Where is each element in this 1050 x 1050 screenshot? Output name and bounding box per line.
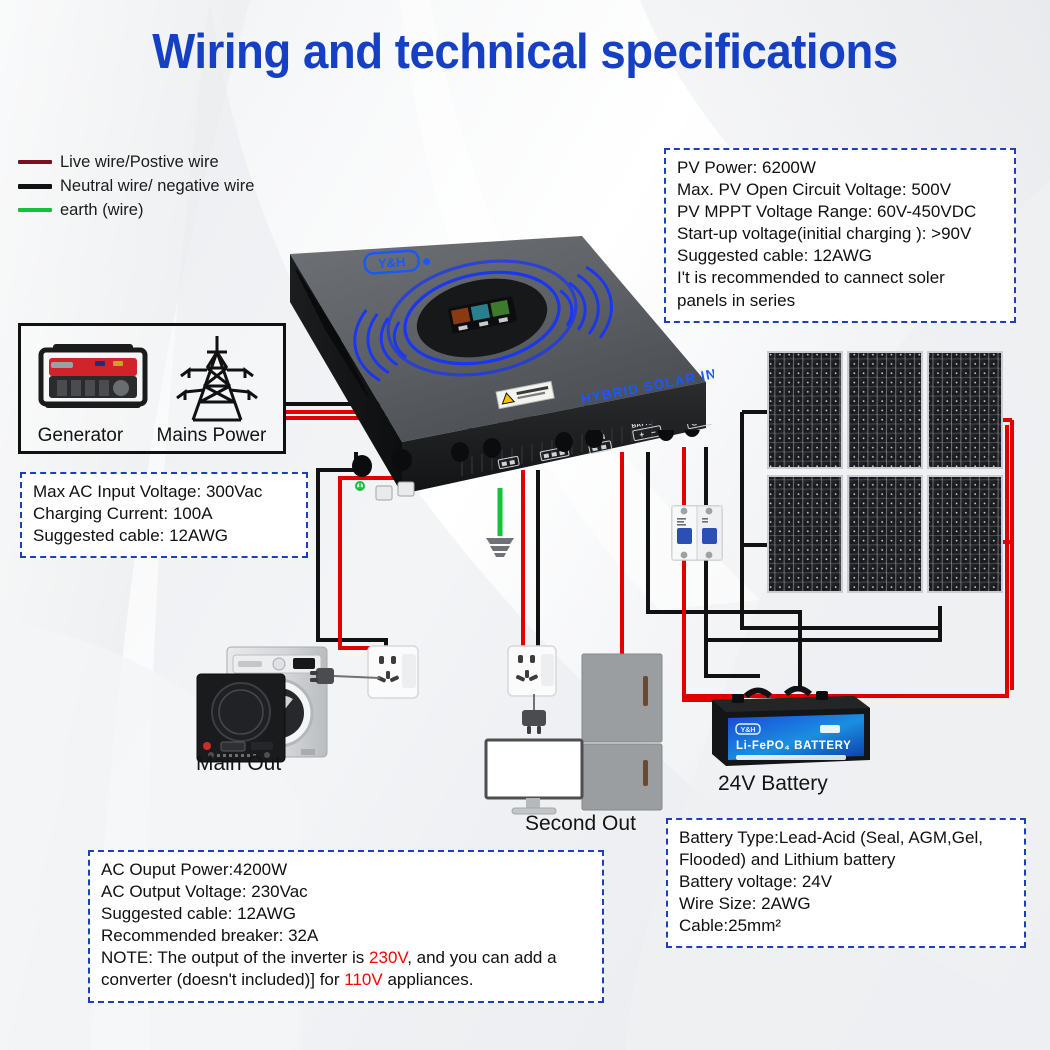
pv-spec-line: Max. PV Open Circuit Voltage: 500V	[677, 179, 1003, 201]
earth-stud-icon	[356, 482, 364, 490]
battery-caption: 24V Battery	[718, 772, 828, 796]
pv-spec-line: PV MPPT Voltage Range: 60V-450VDC	[677, 201, 1003, 223]
second-out-caption: Second Out	[525, 812, 636, 836]
power-pylon-icon	[171, 332, 263, 424]
ac-output-spec-line: AC Ouput Power:4200W	[101, 859, 591, 881]
pv-spec-box: PV Power: 6200W Max. PV Open Circuit Vol…	[664, 148, 1016, 323]
pv-spec-line: PV Power: 6200W	[677, 157, 1003, 179]
lifepo4-battery: Y&H Li-FePO₄ BATTERY	[704, 686, 876, 770]
inverter-comm-ports	[376, 482, 414, 500]
battery-spec-line: Battery Type:Lead-Acid (Seal, AGM,Gel, F…	[679, 827, 1013, 871]
note-suffix: appliances.	[383, 970, 474, 989]
generator-icon	[35, 338, 151, 416]
battery-spec-line: Cable:25mm²	[679, 915, 1013, 937]
ac-source-box: Generator Mains Power	[18, 323, 286, 454]
ac-input-spec-line: Charging Current: 100A	[33, 503, 295, 525]
power-plug-second-out	[518, 694, 550, 742]
main-out-caption: Main Out	[196, 752, 281, 776]
ac-output-spec-box: AC Ouput Power:4200W AC Output Voltage: …	[88, 850, 604, 1003]
solar-panel-array	[766, 350, 1010, 594]
ac-output-spec-line: Recommended breaker: 32A	[101, 925, 591, 947]
note-voltage-230v: 230V	[369, 948, 407, 967]
earth-ground-connection	[480, 488, 540, 568]
battery-brand-text: Y&H	[741, 727, 756, 734]
note-voltage-110v: 110V	[344, 970, 382, 989]
ac-input-spec-line: Suggested cable: 12AWG	[33, 525, 295, 547]
ground-symbol-icon	[486, 538, 514, 557]
refrigerator-icon	[580, 652, 664, 812]
pv-spec-line: I't is recommended to cannect soler	[677, 267, 1003, 289]
note-prefix: NOTE: The output of the inverter is	[101, 948, 369, 967]
wall-socket-second-out	[506, 644, 558, 698]
power-plug-main-out	[310, 660, 380, 694]
generator-label: Generator	[38, 425, 124, 447]
svg-text:Y&H: Y&H	[377, 254, 405, 271]
pv-spec-line: Start-up voltage(initial charging ): >90…	[677, 223, 1003, 245]
dc-circuit-breaker[interactable]	[668, 502, 726, 564]
battery-spec-line: Wire Size: 2AWG	[679, 893, 1013, 915]
battery-spec-line: Battery voltage: 24V	[679, 871, 1013, 893]
pv-spec-line: panels in series	[677, 290, 1003, 312]
ac-output-spec-line: Suggested cable: 12AWG	[101, 903, 591, 925]
induction-cooktop-icon	[195, 672, 287, 764]
pv-spec-line: Suggested cable: 12AWG	[677, 245, 1003, 267]
mains-power-label: Mains Power	[157, 425, 267, 447]
ac-output-spec-line: AC Output Voltage: 230Vac	[101, 881, 591, 903]
battery-spec-box: Battery Type:Lead-Acid (Seal, AGM,Gel, F…	[666, 818, 1026, 948]
ac-output-note: NOTE: The output of the inverter is 230V…	[101, 947, 591, 991]
diagram-canvas: Wiring and technical specifications Live…	[0, 0, 1050, 1050]
monitor-icon	[484, 738, 584, 818]
battery-type-text: Li-FePO₄ BATTERY	[736, 740, 851, 752]
ac-input-spec-line: Max AC Input Voltage: 300Vac	[33, 481, 295, 503]
ac-input-spec-box: Max AC Input Voltage: 300Vac Charging Cu…	[20, 472, 308, 558]
